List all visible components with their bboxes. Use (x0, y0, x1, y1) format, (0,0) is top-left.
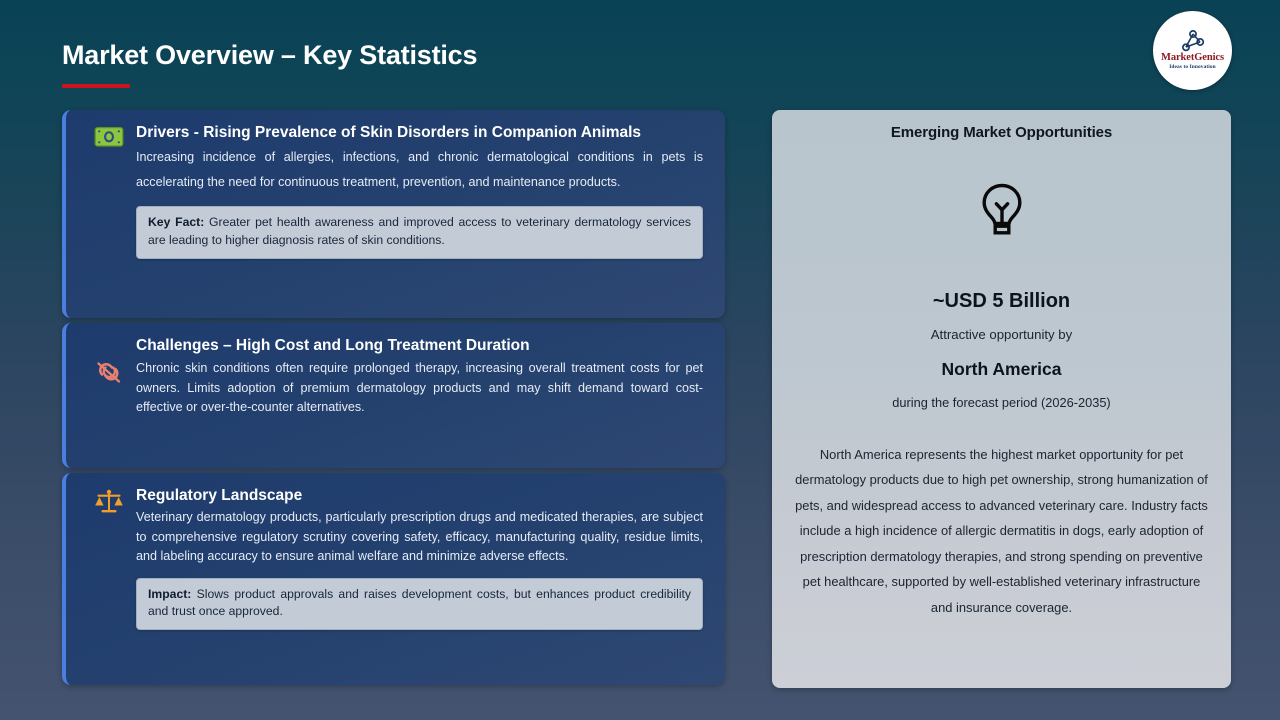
card-highlight-key-fact: Key Fact: Greater pet health awareness a… (136, 206, 703, 258)
card-highlight-impact: Impact: Slows product approvals and rais… (136, 578, 703, 630)
logo-name: MarketGenics (1161, 53, 1224, 64)
emerging-opportunities-panel: Emerging Market Opportunities ~USD 5 Bil… (772, 110, 1231, 688)
card-regulatory-body: Regulatory Landscape Veterinary dermatol… (130, 486, 703, 671)
balance-scales-icon (88, 486, 130, 671)
opportunity-region: North America (790, 359, 1213, 380)
card-description: Chronic skin conditions often require pr… (136, 359, 703, 416)
panel-title: Emerging Market Opportunities (790, 124, 1213, 141)
opportunity-value: ~USD 5 Billion (790, 290, 1213, 313)
highlight-label: Impact: (148, 587, 191, 601)
opportunity-description: North America represents the highest mar… (790, 442, 1213, 620)
card-regulatory[interactable]: Regulatory Landscape Veterinary dermatol… (62, 473, 725, 685)
highlight-text: Greater pet health awareness and improve… (148, 215, 691, 247)
card-challenges-body: Challenges – High Cost and Long Treatmen… (130, 336, 703, 454)
network-nodes-icon (1180, 30, 1206, 52)
insight-cards-column: Drivers - Rising Prevalence of Skin Diso… (62, 110, 725, 690)
card-drivers[interactable]: Drivers - Rising Prevalence of Skin Diso… (62, 110, 725, 318)
brand-logo: MarketGenics Ideas to Innovation (1153, 11, 1232, 90)
card-drivers-body: Drivers - Rising Prevalence of Skin Diso… (130, 123, 703, 304)
card-challenges[interactable]: Challenges – High Cost and Long Treatmen… (62, 323, 725, 468)
opportunity-period: during the forecast period (2026-2035) (790, 395, 1213, 410)
broken-link-icon (88, 336, 130, 454)
card-description: Increasing incidence of allergies, infec… (136, 145, 703, 194)
card-title: Challenges – High Cost and Long Treatmen… (136, 336, 703, 355)
opportunity-subtitle: Attractive opportunity by (790, 327, 1213, 342)
highlight-text: Slows product approvals and raises devel… (148, 587, 691, 619)
card-title: Drivers - Rising Prevalence of Skin Diso… (136, 123, 703, 142)
money-banknote-icon (88, 123, 130, 304)
page-title: Market Overview – Key Statistics (62, 40, 477, 71)
logo-tagline: Ideas to Innovation (1169, 64, 1216, 71)
card-title: Regulatory Landscape (136, 486, 703, 505)
lightbulb-icon (790, 182, 1213, 237)
highlight-label: Key Fact: (148, 215, 204, 229)
slide-header: Market Overview – Key Statistics (0, 0, 1280, 105)
title-underline-accent (62, 84, 130, 88)
card-description: Veterinary dermatology products, particu… (136, 508, 703, 565)
